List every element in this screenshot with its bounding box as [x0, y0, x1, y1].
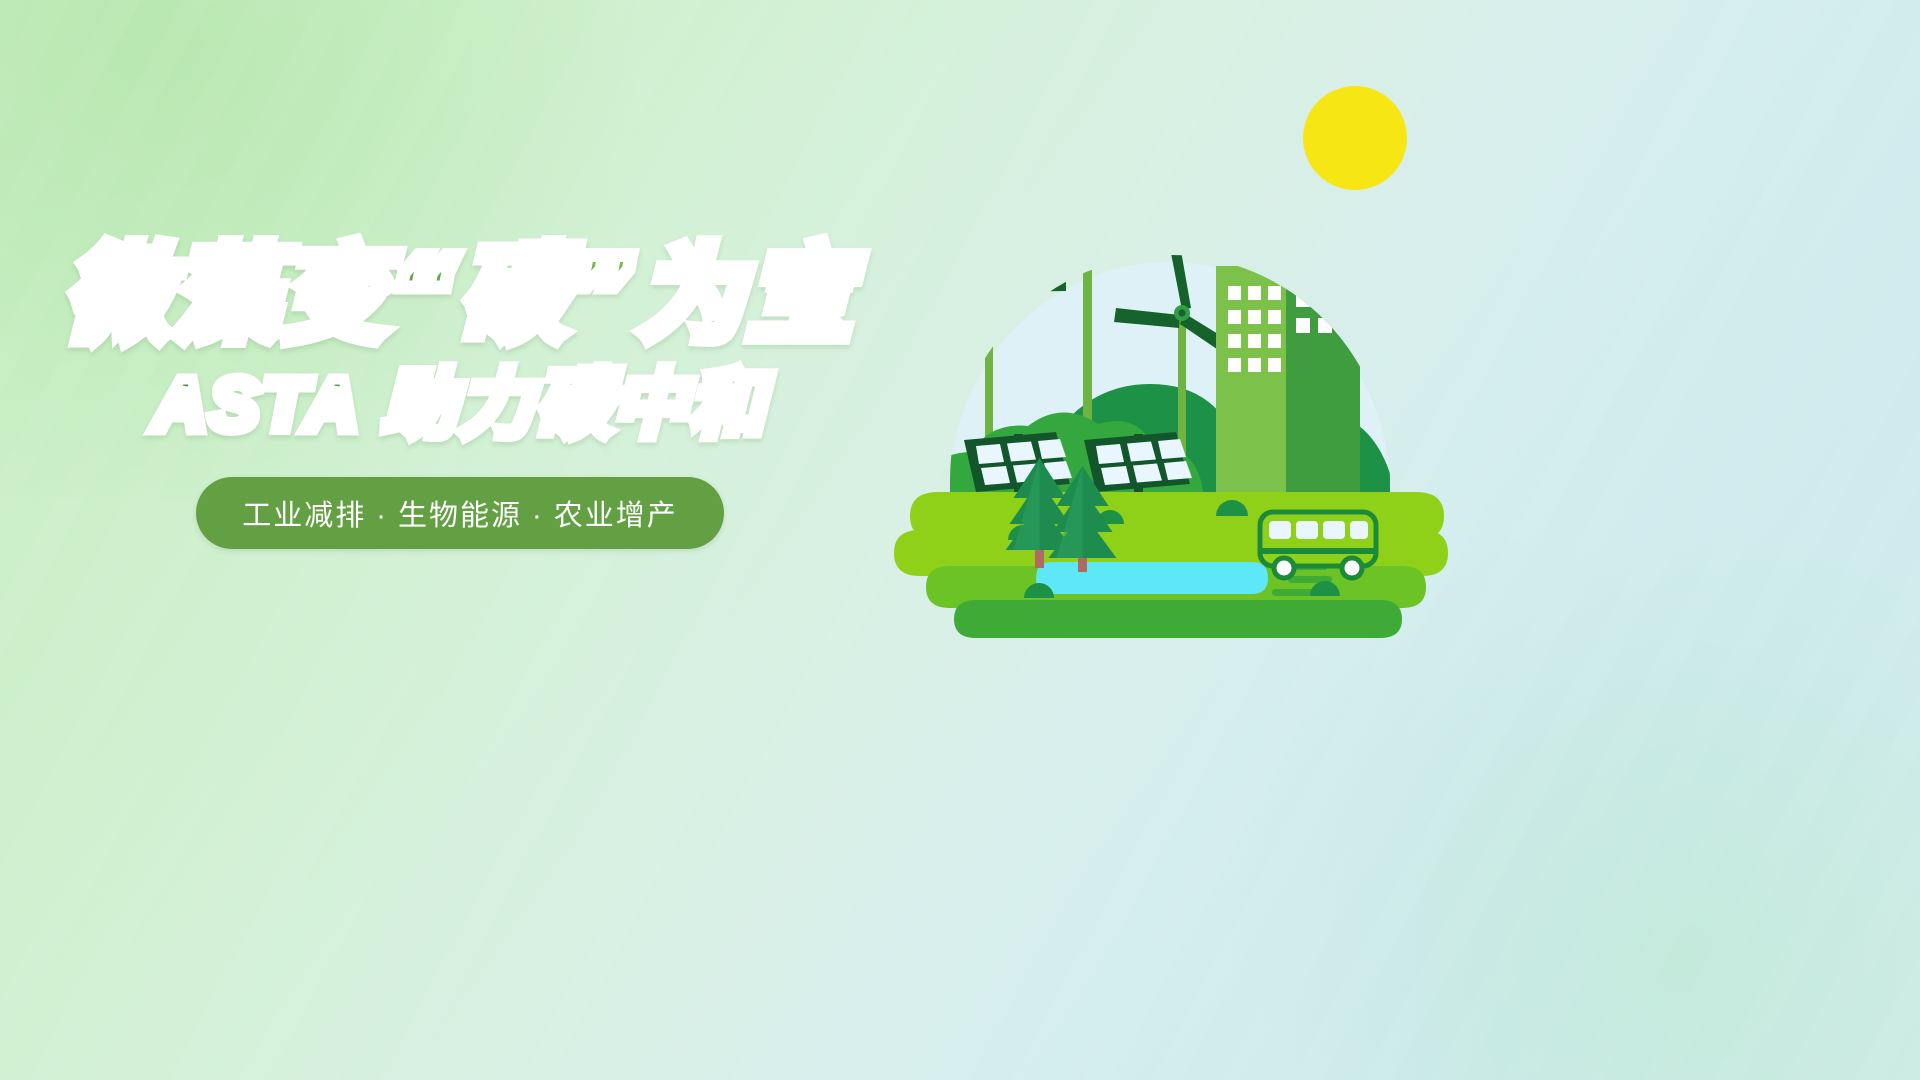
- eco-city-illustration: [880, 60, 1500, 680]
- building-short: [1216, 266, 1286, 506]
- banner-copy: 微藻变“碳”为宝 ASTA 助力碳中和 工业减排 · 生物能源 · 农业增产: [0, 238, 920, 549]
- page-subtitle: ASTA 助力碳中和: [0, 362, 920, 447]
- tagline-badge: 工业减排 · 生物能源 · 农业增产: [196, 477, 724, 549]
- tagline-row: 工业减排 · 生物能源 · 农业增产: [0, 477, 920, 549]
- bus-icon: [1260, 512, 1376, 578]
- banner-stage: 微藻变“碳”为宝 ASTA 助力碳中和 工业减排 · 生物能源 · 农业增产: [0, 0, 1920, 1080]
- sun-icon: [1303, 86, 1407, 190]
- lake: [1036, 562, 1268, 594]
- building-tall: [1284, 220, 1360, 506]
- page-title: 微藻变“碳”为宝: [0, 238, 920, 352]
